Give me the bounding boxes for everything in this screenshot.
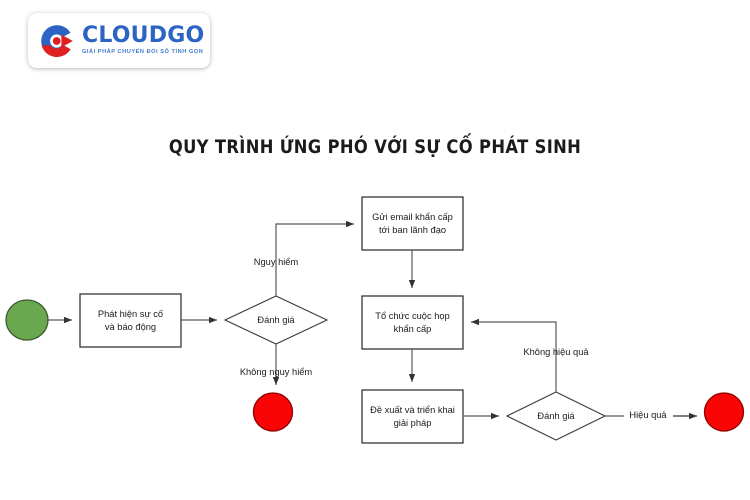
node-detect bbox=[80, 294, 181, 347]
edge-label-khong-nguy-hiem: Không nguy hiểm bbox=[216, 367, 336, 377]
node-end-ok bbox=[705, 393, 744, 431]
node-meeting bbox=[362, 296, 463, 349]
edge-label-khong-hieu-qua: Không hiệu quả bbox=[496, 347, 616, 357]
edge-label-nguy-hiem: Nguy hiểm bbox=[216, 257, 336, 267]
node-assess1 bbox=[225, 296, 327, 344]
flowchart-canvas: Phát hiện sự cố và báo động Đánh giá Gửi… bbox=[0, 0, 750, 500]
node-start bbox=[6, 300, 48, 340]
node-email bbox=[362, 197, 463, 250]
node-solution bbox=[362, 390, 463, 443]
node-end-safe bbox=[254, 393, 293, 431]
edge-label-hieu-qua: Hiệu quả bbox=[613, 410, 683, 420]
edge-assess2-meeting bbox=[471, 322, 556, 392]
node-assess2 bbox=[507, 392, 605, 440]
